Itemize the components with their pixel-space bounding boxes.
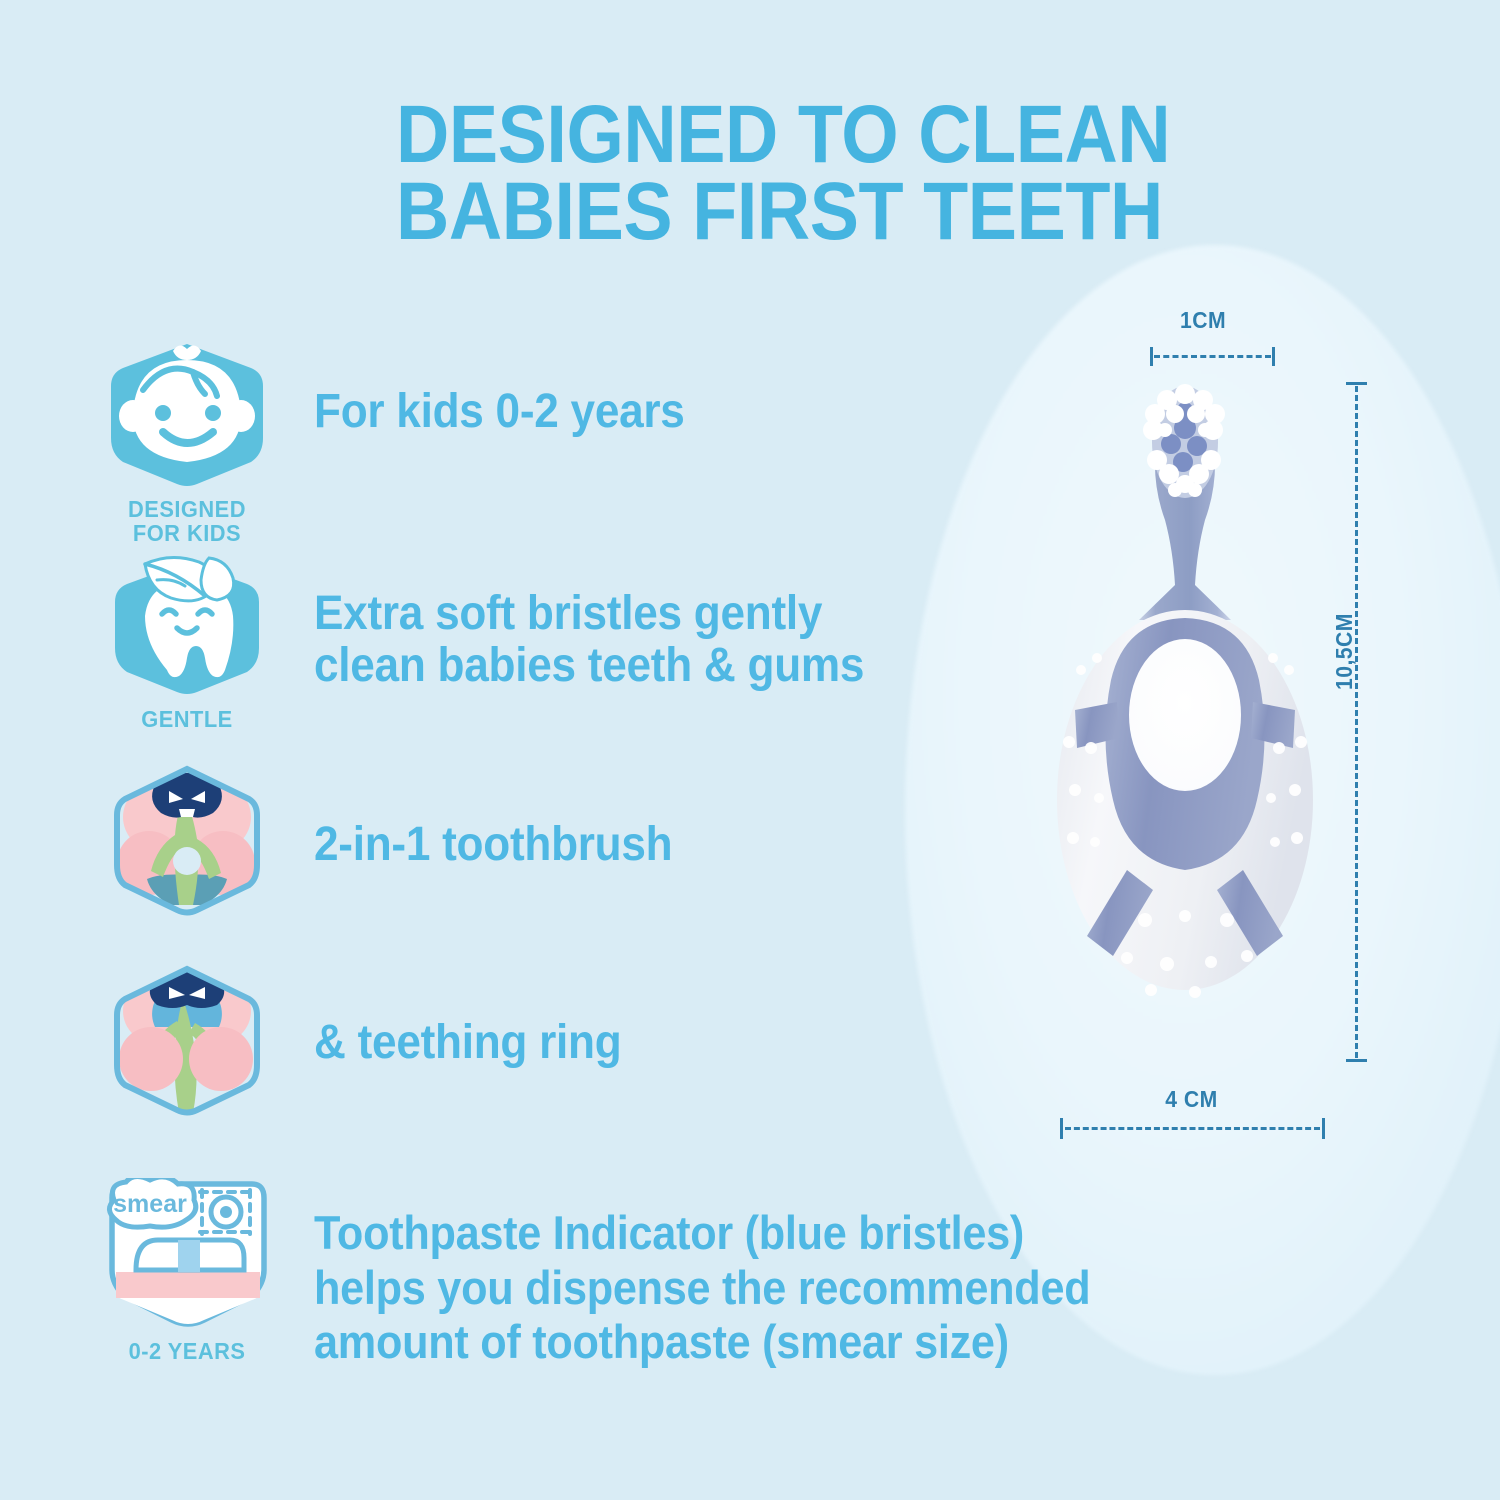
dimension-cap-left	[1060, 1118, 1063, 1139]
smear-bubble-label: smear	[113, 1190, 187, 1218]
dimension-cap-left	[1150, 347, 1153, 366]
dimension-cap-right	[1322, 1118, 1325, 1139]
feature-text: & teething ring	[314, 1017, 621, 1069]
feature-text: Toothpaste Indicator (blue bristles) hel…	[314, 1206, 1090, 1370]
dimension-label-width-bottom: 4 CM	[1165, 1086, 1217, 1113]
dimension-dashes	[1065, 1127, 1320, 1130]
dimension-cap-bottom	[1346, 1059, 1367, 1062]
product-image-baby-toothbrush	[1035, 370, 1335, 1070]
dimension-line-width-bottom	[1060, 1117, 1325, 1139]
smear-size-icon: smear	[92, 1178, 282, 1330]
badge-caption: GENTLE	[97, 707, 278, 731]
teether-hole	[1129, 639, 1241, 791]
page-title: DESIGNED TO CLEAN BABIES FIRST TEETH	[396, 96, 1206, 250]
dimension-line-height	[1344, 382, 1368, 1062]
feature-badge-gentle: GENTLE	[92, 548, 282, 731]
feature-badge-two-in-one	[92, 755, 282, 929]
teething-ring-icon	[101, 955, 273, 1120]
feature-text: For kids 0-2 years	[314, 386, 685, 438]
dimension-label-width-top: 1CM	[1180, 307, 1226, 334]
dimension-dashes	[1154, 355, 1271, 358]
feature-row: smear 0-2 YEARS Toothpaste Indicator (bl…	[92, 1178, 1192, 1388]
designed-for-kids-icon	[101, 338, 273, 488]
feature-text: 2-in-1 toothbrush	[314, 819, 672, 871]
dimension-label-height: 10,5CM	[1331, 613, 1358, 690]
feature-row: 2-in-1 toothbrush	[92, 755, 1192, 945]
feature-text: Extra soft bristles gently clean babies …	[314, 588, 864, 692]
badge-caption: DESIGNED FOR KIDS	[97, 497, 278, 545]
feature-badge-smear-size: smear 0-2 YEARS	[92, 1178, 282, 1363]
dimension-line-width-top	[1150, 345, 1275, 367]
dimension-dashes	[1355, 386, 1358, 1058]
dimension-cap-right	[1272, 347, 1275, 366]
feature-row: DESIGNED FOR KIDS For kids 0-2 years	[92, 338, 1192, 538]
feature-badge-teething-ring	[92, 955, 282, 1129]
dimension-cap-top	[1346, 382, 1367, 385]
feature-badge-designed-for-kids: DESIGNED FOR KIDS	[92, 338, 282, 545]
two-in-one-toothbrush-icon	[101, 755, 273, 920]
feature-row: GENTLE Extra soft bristles gently clean …	[92, 548, 1192, 748]
badge-caption: 0-2 YEARS	[97, 1339, 278, 1363]
feature-row: & teething ring	[92, 955, 1192, 1145]
gentle-tooth-icon	[101, 548, 273, 698]
